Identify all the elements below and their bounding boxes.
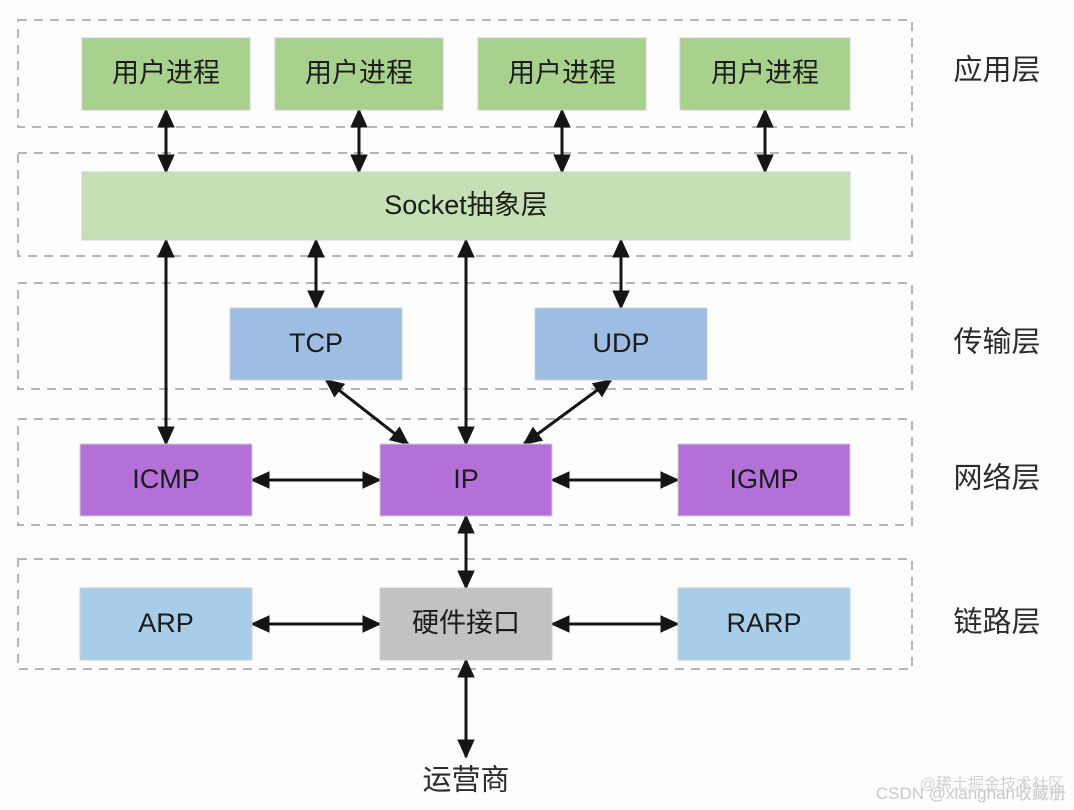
node-label-user-process-2: 用户进程 <box>305 58 413 88</box>
node-label-user-process-3: 用户进程 <box>508 58 616 88</box>
node-label-socket-abstraction: Socket抽象层 <box>384 190 548 220</box>
node-user-process-4[interactable]: 用户进程 <box>680 38 850 110</box>
diagram-canvas: 用户进程用户进程用户进程用户进程Socket抽象层TCPUDPICMPIPIGM… <box>0 0 1074 810</box>
node-user-process-3[interactable]: 用户进程 <box>478 38 646 110</box>
node-udp[interactable]: UDP <box>535 308 707 380</box>
watermark: @稀土掘金技术社区 CSDN @xianghan收藏册 <box>876 779 1066 804</box>
node-label-icmp: ICMP <box>132 464 200 494</box>
node-arp[interactable]: ARP <box>80 588 252 660</box>
protocol-stack-diagram: 用户进程用户进程用户进程用户进程Socket抽象层TCPUDPICMPIPIGM… <box>0 0 1074 810</box>
watermark-secondary: @稀土掘金技术社区 <box>920 770 1064 794</box>
node-tcp[interactable]: TCP <box>230 308 402 380</box>
node-label-igmp: IGMP <box>729 464 798 494</box>
node-label-user-process-4: 用户进程 <box>711 58 819 88</box>
layer-titles-group: 应用层传输层网络层链路层 <box>953 54 1040 639</box>
layer-title-link: 链路层 <box>953 606 1040 639</box>
layer-title-transport: 传输层 <box>953 326 1040 359</box>
node-label-user-process-1: 用户进程 <box>112 58 220 88</box>
node-ip[interactable]: IP <box>380 444 552 516</box>
layer-title-network: 网络层 <box>953 462 1040 495</box>
node-icmp[interactable]: ICMP <box>80 444 252 516</box>
node-socket-abstraction[interactable]: Socket抽象层 <box>82 172 850 240</box>
node-igmp[interactable]: IGMP <box>678 444 850 516</box>
node-user-process-2[interactable]: 用户进程 <box>275 38 443 110</box>
free-label-carrier: 运营商 <box>422 764 509 797</box>
layer-title-application: 应用层 <box>953 54 1040 87</box>
node-hardware-interface[interactable]: 硬件接口 <box>380 588 552 660</box>
node-label-tcp: TCP <box>289 328 343 358</box>
node-label-hardware-interface: 硬件接口 <box>412 608 520 638</box>
node-label-ip: IP <box>453 464 479 494</box>
node-label-rarp: RARP <box>726 608 801 638</box>
node-label-udp: UDP <box>592 328 649 358</box>
node-user-process-1[interactable]: 用户进程 <box>82 38 250 110</box>
node-label-arp: ARP <box>138 608 194 638</box>
node-rarp[interactable]: RARP <box>678 588 850 660</box>
free-labels-group: 运营商 <box>422 764 509 797</box>
